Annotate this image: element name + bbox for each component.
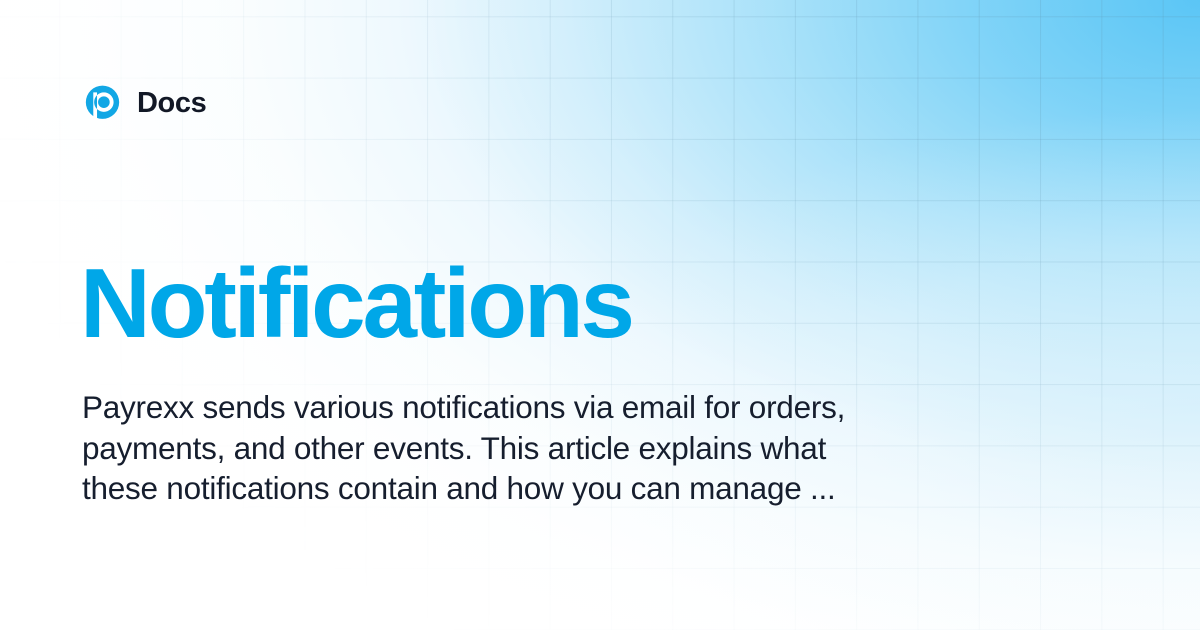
brand-name-label: Docs	[137, 89, 206, 118]
page-title: Notifications	[80, 252, 632, 355]
page-excerpt: Payrexx sends various notifications via …	[82, 387, 882, 509]
payrexx-p-logo-icon	[82, 83, 123, 124]
brand-lockup[interactable]: Docs	[82, 82, 206, 124]
og-share-card: Docs Notifications Payrexx sends various…	[0, 0, 1200, 630]
card-content: Docs Notifications Payrexx sends various…	[0, 0, 1200, 630]
